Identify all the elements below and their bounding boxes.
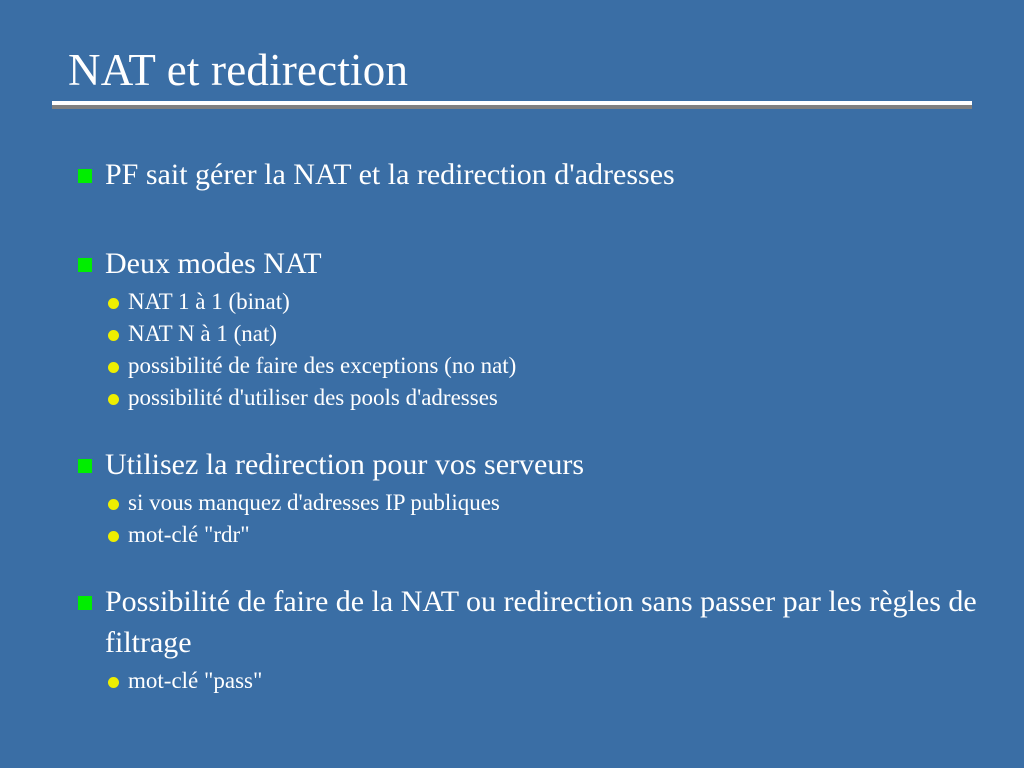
bullet-item-level2: si vous manquez d'adresses IP publiques [78, 487, 978, 519]
bullet-item-level2: NAT N à 1 (nat) [78, 318, 978, 350]
title-divider [52, 101, 972, 109]
bullet-text-level1: Utilisez la redirection pour vos serveur… [105, 444, 978, 485]
dot-bullet-icon [108, 531, 119, 542]
bullet-text-level1: Deux modes NAT [105, 243, 978, 284]
bullet-group: PF sait gérer la NAT et la redirection d… [78, 154, 978, 195]
bullet-item-level2: mot-clé "rdr" [78, 519, 978, 551]
bullet-text-level1: Possibilité de faire de la NAT ou redire… [105, 581, 978, 663]
bullet-text-level2: possibilité d'utiliser des pools d'adres… [128, 382, 978, 414]
bullet-sublist: si vous manquez d'adresses IP publiquesm… [78, 487, 978, 551]
bullet-text-level2: NAT N à 1 (nat) [128, 318, 978, 350]
bullet-text-level2: mot-clé "rdr" [128, 519, 978, 551]
bullet-text-level2: NAT 1 à 1 (binat) [128, 286, 978, 318]
bullet-sublist: NAT 1 à 1 (binat)NAT N à 1 (nat)possibil… [78, 286, 978, 414]
slide-body: PF sait gérer la NAT et la redirection d… [78, 154, 978, 697]
bullet-item-level1: Possibilité de faire de la NAT ou redire… [78, 581, 978, 663]
bullet-group: Possibilité de faire de la NAT ou redire… [78, 581, 978, 697]
bullet-group: Deux modes NATNAT 1 à 1 (binat)NAT N à 1… [78, 243, 978, 414]
bullet-item-level2: NAT 1 à 1 (binat) [78, 286, 978, 318]
dot-bullet-icon [108, 298, 119, 309]
bullet-item-level2: possibilité d'utiliser des pools d'adres… [78, 382, 978, 414]
slide: NAT et redirection PF sait gérer la NAT … [0, 0, 1024, 768]
bullet-text-level2: possibilité de faire des exceptions (no … [128, 350, 978, 382]
bullet-item-level2: mot-clé "pass" [78, 665, 978, 697]
bullet-item-level1: Utilisez la redirection pour vos serveur… [78, 444, 978, 485]
bullet-group: Utilisez la redirection pour vos serveur… [78, 444, 978, 551]
dot-bullet-icon [108, 499, 119, 510]
bullet-text-level2: mot-clé "pass" [128, 665, 978, 697]
dot-bullet-icon [108, 677, 119, 688]
bullet-item-level1: PF sait gérer la NAT et la redirection d… [78, 154, 978, 195]
dot-bullet-icon [108, 330, 119, 341]
bullet-text-level2: si vous manquez d'adresses IP publiques [128, 487, 978, 519]
page-title: NAT et redirection [52, 44, 972, 96]
dot-bullet-icon [108, 394, 119, 405]
bullet-text-level1: PF sait gérer la NAT et la redirection d… [105, 154, 978, 195]
dot-bullet-icon [108, 362, 119, 373]
bullet-item-level2: possibilité de faire des exceptions (no … [78, 350, 978, 382]
square-bullet-icon [78, 459, 92, 473]
square-bullet-icon [78, 596, 92, 610]
square-bullet-icon [78, 169, 92, 183]
square-bullet-icon [78, 258, 92, 272]
bullet-item-level1: Deux modes NAT [78, 243, 978, 284]
bullet-sublist: mot-clé "pass" [78, 665, 978, 697]
title-block: NAT et redirection [52, 44, 972, 109]
